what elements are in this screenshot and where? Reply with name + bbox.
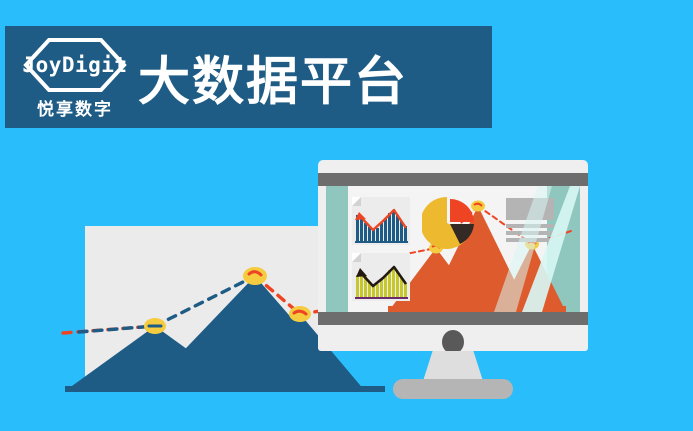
desktop-monitor — [318, 160, 588, 360]
header-banner: JoyDigit 悦享数字 大数据平台 — [5, 26, 492, 128]
monitor-stand-neck — [423, 351, 483, 381]
monitor-bottom-bar — [318, 312, 588, 325]
page-title: 大数据平台 — [138, 40, 408, 115]
bar-chart-card-olive — [352, 253, 410, 301]
monitor-camera-dot — [442, 330, 464, 354]
document-widget — [506, 198, 554, 240]
bar-chart-card-blue — [352, 197, 410, 245]
logo-hexagon-icon: JoyDigit — [23, 37, 127, 93]
logo-chinese-name: 悦享数字 — [37, 95, 113, 120]
document-text-line — [506, 224, 554, 228]
document-text-line — [506, 238, 554, 242]
pie-chart — [422, 196, 476, 250]
document-text-line — [506, 231, 554, 235]
monitor-top-bar — [318, 173, 588, 186]
brand-logo: JoyDigit 悦享数字 — [19, 32, 131, 124]
mountain-analytics-panel — [85, 226, 318, 391]
logo-wordmark: JoyDigit — [23, 37, 127, 93]
monitor-screen — [326, 186, 580, 312]
poster-canvas: JoyDigit 悦享数字 大数据平台 — [0, 0, 693, 431]
monitor-stand-base — [393, 379, 513, 399]
document-image-block — [506, 198, 554, 220]
